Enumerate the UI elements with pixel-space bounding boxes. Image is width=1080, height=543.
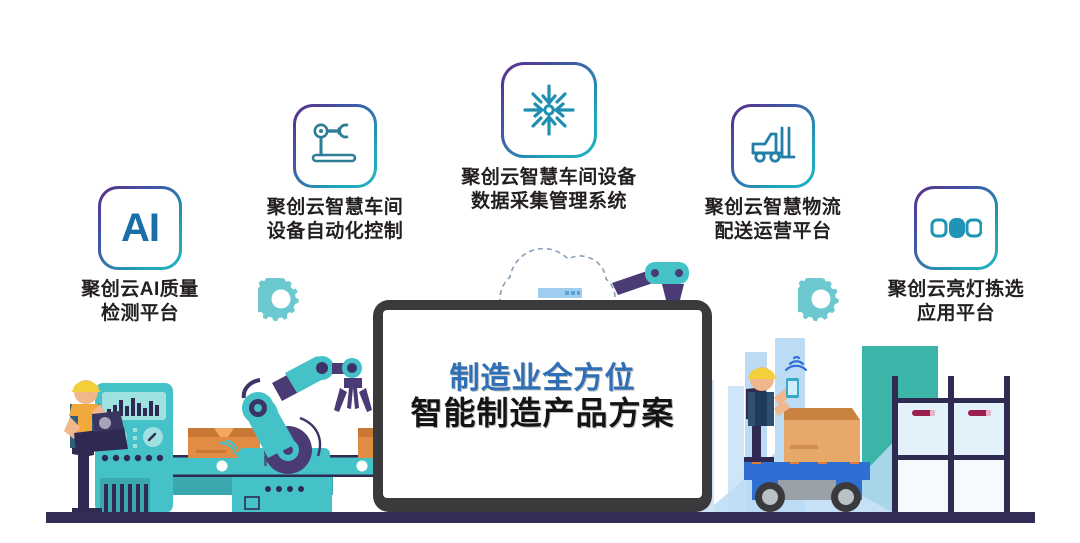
poster-canvas: AI 聚创云AI质量 检测平台 聚创云智慧车间 设备自动化控制	[0, 0, 1080, 543]
agv-cart	[744, 455, 870, 512]
logistics-scene	[0, 0, 1080, 543]
cardboard-box-agv	[784, 408, 860, 462]
pick-to-light-shelving	[892, 376, 1010, 513]
floor-strip	[46, 512, 1035, 523]
